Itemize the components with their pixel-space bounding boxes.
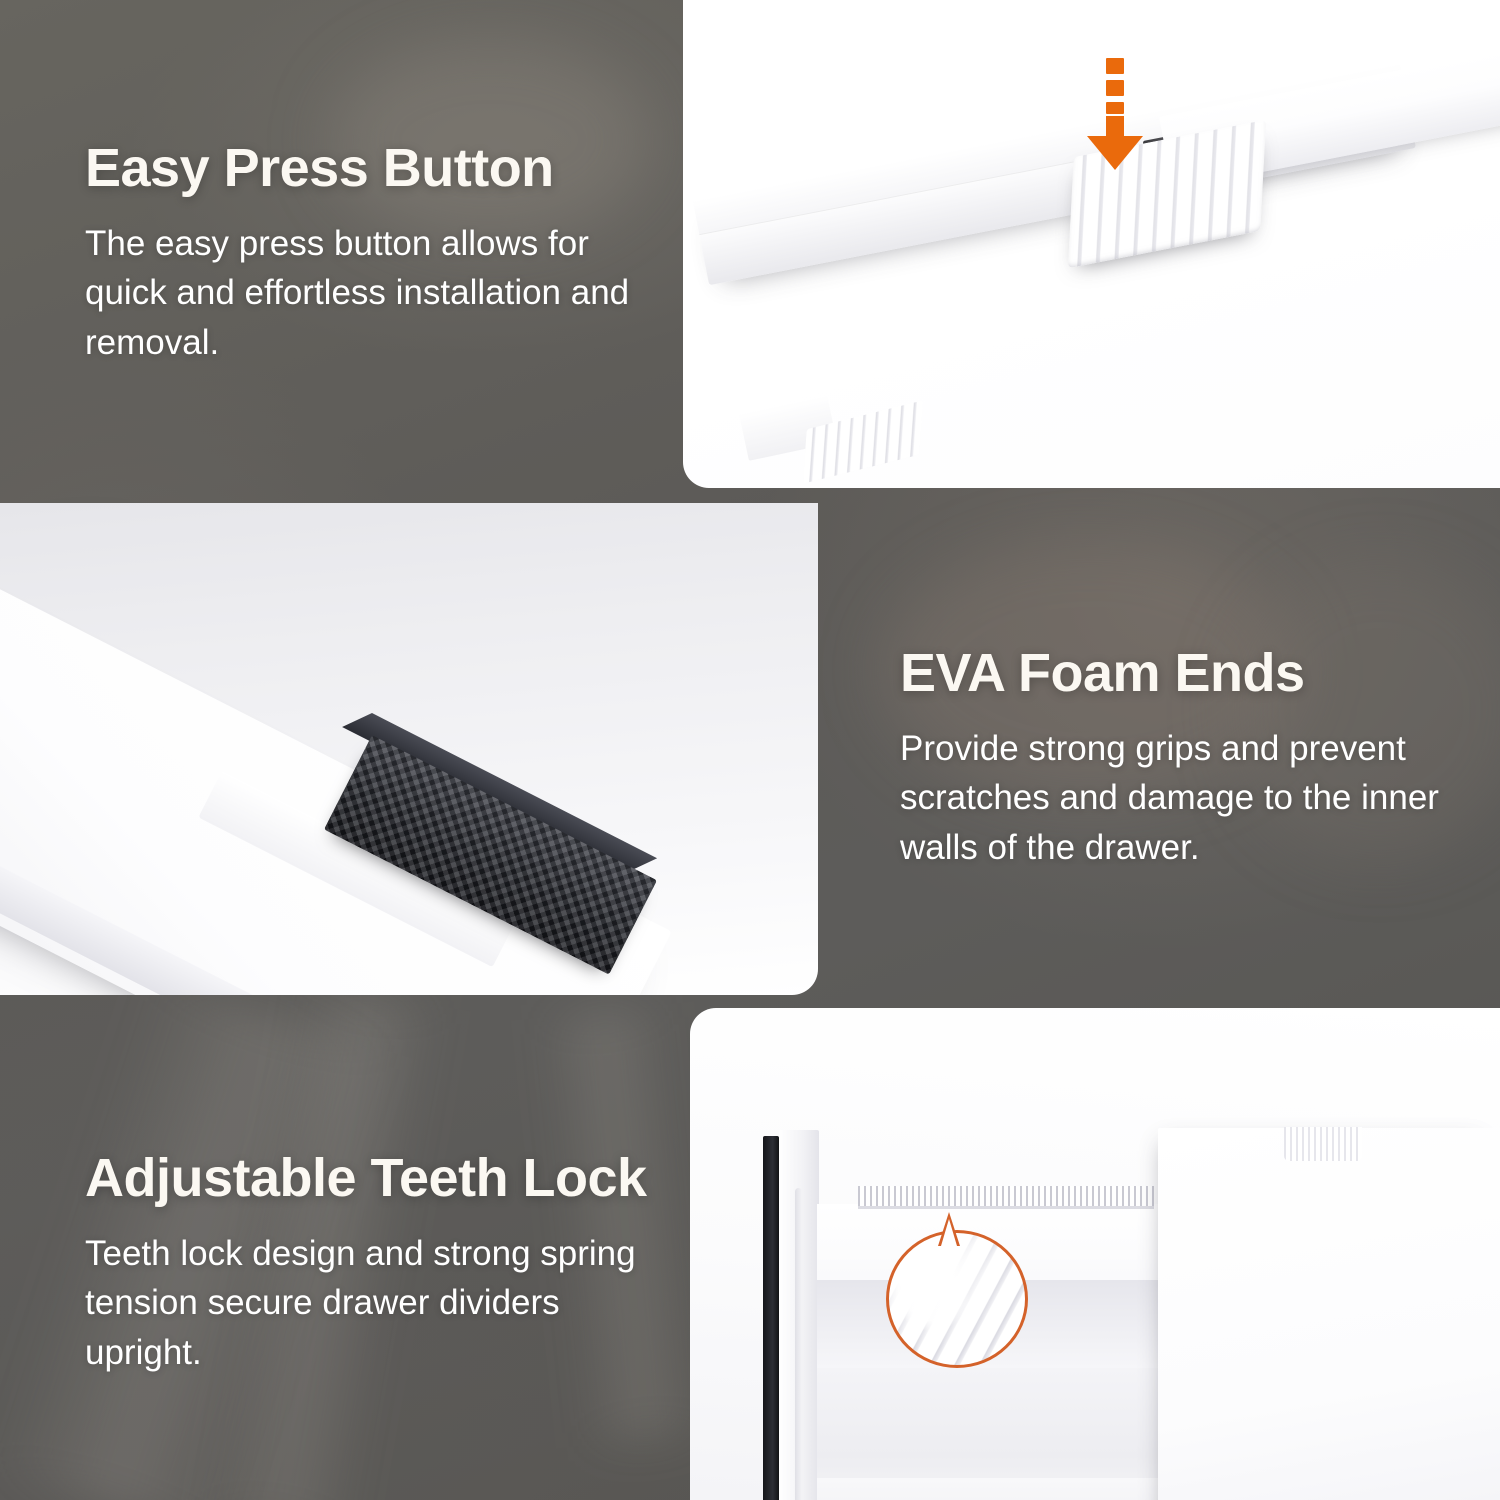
divider-main-block (1158, 1128, 1500, 1500)
eva-foam-strip (763, 1136, 779, 1500)
magnifier-glow (895, 1257, 969, 1331)
arrow-head (1087, 136, 1143, 170)
feature-body: Provide strong grips and prevent scratch… (900, 724, 1440, 873)
feature-body: The easy press button allows for quick a… (85, 219, 665, 368)
feature-heading: Easy Press Button (85, 140, 665, 197)
magnifier-circle (886, 1230, 1028, 1368)
product-photo-eva-foam (0, 503, 818, 995)
feature-text-adjustable-teeth-lock: Adjustable Teeth Lock Teeth lock design … (85, 1150, 675, 1378)
arrow-dash-1 (1106, 58, 1124, 74)
magnifier-callout-icon (886, 1212, 1028, 1362)
feature-text-easy-press-button: Easy Press Button The easy press button … (85, 140, 665, 368)
feature-body: Teeth lock design and strong spring tens… (85, 1229, 675, 1378)
product-photo-teeth-lock (690, 1008, 1500, 1500)
infographic-canvas: Easy Press Button The easy press button … (0, 0, 1500, 1500)
feature-heading: EVA Foam Ends (900, 645, 1440, 702)
divider-end-cap-groove (795, 1188, 802, 1500)
feature-text-eva-foam-ends: EVA Foam Ends Provide strong grips and p… (900, 645, 1440, 873)
teeth-rack (858, 1186, 1154, 1208)
teeth-rack-baseline (858, 1206, 1154, 1209)
down-arrow-icon (1087, 58, 1143, 170)
magnifier-pointer-fill (941, 1219, 957, 1246)
divider-rail-shade-lower (817, 1478, 1165, 1500)
arrow-dash-2 (1106, 80, 1124, 96)
arrow-dash-3 (1106, 102, 1124, 114)
feature-heading: Adjustable Teeth Lock (85, 1150, 675, 1207)
divider-block-tab-ribbed (1284, 1127, 1362, 1161)
